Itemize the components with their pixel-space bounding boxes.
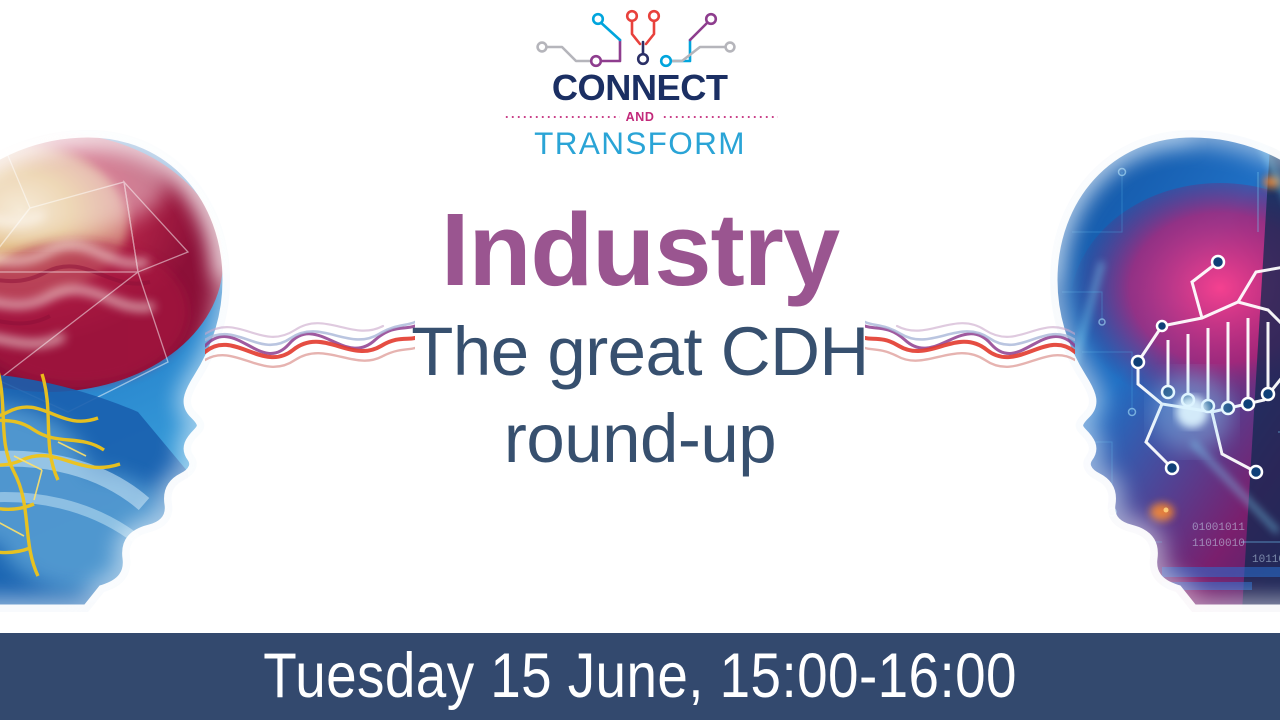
headline-subtitle-line-1: The great CDH: [320, 309, 960, 396]
circuit-network-icon: [532, 6, 748, 68]
left-head-artwork: [0, 112, 238, 612]
connect-and-transform-logo: CONNECT AND TRANSFORM: [0, 6, 1280, 176]
headline-title: Industry: [320, 196, 960, 303]
headline-subtitle-line-2: round-up: [320, 396, 960, 483]
divider-dots-right: [660, 116, 778, 118]
logo-transform-wordmark: TRANSFORM: [505, 126, 775, 162]
divider-dots-left: [502, 116, 620, 118]
logo-connect-text: CONNECT: [552, 70, 728, 108]
event-date-text: Tuesday 15 June, 15:00-16:00: [263, 645, 1017, 708]
svg-text:10110100: 10110100: [1252, 554, 1280, 566]
logo-and-divider: AND: [502, 109, 778, 125]
date-banner: Tuesday 15 June, 15:00-16:00: [0, 633, 1280, 720]
right-head-artwork: 01001011 11010010 10110100: [1042, 112, 1280, 612]
headline-block: Industry The great CDH round-up: [320, 196, 960, 483]
svg-text:11010010: 11010010: [1192, 538, 1245, 550]
event-promo-poster: 01001011 11010010 10110100: [0, 0, 1280, 720]
logo-transform-text: TRANSFORM: [534, 126, 746, 161]
anatomical-brain-head-illustration: [0, 112, 238, 612]
logo-and-text: AND: [620, 111, 661, 124]
digital-circuit-head-illustration: 01001011 11010010 10110100: [1042, 112, 1280, 612]
svg-text:01001011: 01001011: [1192, 522, 1245, 534]
logo-connect-wordmark: CONNECT: [504, 70, 775, 108]
